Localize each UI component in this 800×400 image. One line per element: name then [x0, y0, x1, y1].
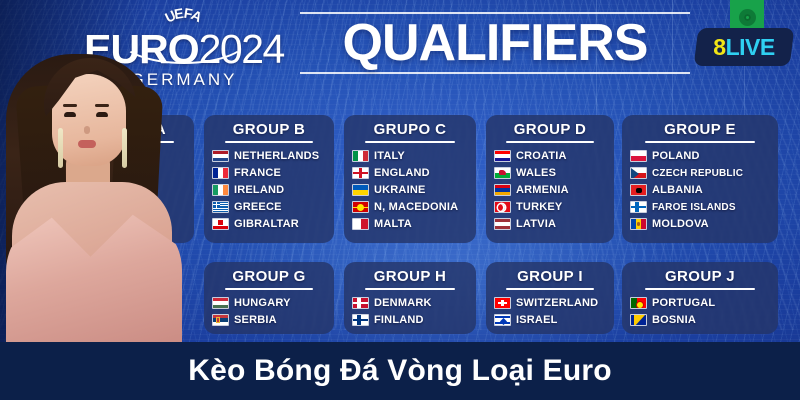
banner-headline: Kèo Bóng Đá Vòng Loại Euro: [188, 354, 612, 388]
team-row[interactable]: ISRAEL: [494, 312, 606, 328]
flag-icon-malta: [352, 218, 369, 230]
team-list-g: HUNGARYSERBIA: [212, 295, 326, 328]
team-name: FAROE ISLANDS: [652, 202, 736, 213]
model-photo-cutout: [0, 0, 190, 342]
team-name: ENGLAND: [374, 167, 430, 179]
team-name: WALES: [516, 167, 556, 179]
team-row[interactable]: DENMARK: [352, 295, 468, 311]
flag-icon-wales: [494, 167, 511, 179]
flag-icon-england: [352, 167, 369, 179]
team-name: IRELAND: [234, 184, 284, 196]
team-row[interactable]: ALBANIA: [630, 182, 770, 198]
team-row[interactable]: N, MACEDONIA: [352, 199, 468, 215]
model-eye-right: [96, 112, 108, 117]
team-name: POLAND: [652, 150, 700, 162]
brand-number: 8: [713, 34, 725, 61]
flag-icon-denmark: [352, 297, 369, 309]
team-row[interactable]: ENGLAND: [352, 165, 468, 181]
bottom-banner: Kèo Bóng Đá Vòng Loại Euro: [0, 342, 800, 400]
team-name: DENMARK: [374, 297, 432, 309]
group-title-j: GROUP J: [630, 268, 770, 285]
page-title: QUALIFIERS: [300, 17, 690, 70]
team-name: GIBRALTAR: [234, 218, 299, 230]
team-row[interactable]: MOLDOVA: [630, 216, 770, 232]
brand-wordmark: 8LIVE: [696, 28, 792, 66]
flag-icon-ireland: [212, 184, 229, 196]
group-title-underline: [365, 141, 455, 143]
group-title-underline: [225, 288, 314, 290]
team-name: PORTUGAL: [652, 297, 715, 309]
flag-icon-turkey: [494, 201, 511, 213]
group-title-underline: [506, 141, 593, 143]
model-brow-right: [95, 104, 109, 107]
model-eye-left: [64, 112, 76, 117]
team-row[interactable]: FINLAND: [352, 312, 468, 328]
team-row[interactable]: SERBIA: [212, 312, 326, 328]
group-panel-i[interactable]: GROUP ISWITZERLANDISRAEL: [486, 262, 614, 334]
team-name: ISRAEL: [516, 314, 558, 326]
team-row[interactable]: MALTA: [352, 216, 468, 232]
flag-icon-albania: [630, 184, 647, 196]
team-name: CROATIA: [516, 150, 567, 162]
team-name: FINLAND: [374, 314, 424, 326]
team-name: ALBANIA: [652, 184, 703, 196]
team-name: UKRAINE: [374, 184, 426, 196]
team-name: SERBIA: [234, 314, 277, 326]
flag-icon-netherlands: [212, 150, 229, 162]
team-name: ARMENIA: [516, 184, 569, 196]
group-title-b: GROUP B: [212, 121, 326, 138]
qualifiers-title-block: QUALIFIERS: [300, 12, 690, 74]
group-title-underline: [645, 141, 754, 143]
flag-icon-faroe: [630, 201, 647, 213]
team-row[interactable]: LATVIA: [494, 216, 606, 232]
team-list-b: NETHERLANDSFRANCEIRELANDGREECEGIBRALTAR: [212, 148, 326, 232]
brand-word: LIVE: [726, 34, 775, 61]
group-title-g: GROUP G: [212, 268, 326, 285]
group-panel-c[interactable]: GRUPO CITALYENGLANDUKRAINEN, MACEDONIAMA…: [344, 115, 476, 243]
team-row[interactable]: GREECE: [212, 199, 326, 215]
team-row[interactable]: UKRAINE: [352, 182, 468, 198]
team-row[interactable]: IRELAND: [212, 182, 326, 198]
model-earring-left: [58, 128, 63, 168]
team-name: ITALY: [374, 150, 405, 162]
team-row[interactable]: POLAND: [630, 148, 770, 164]
group-title-underline: [645, 288, 754, 290]
group-title-e: GROUP E: [630, 121, 770, 138]
group-title-underline: [365, 288, 455, 290]
model-earring-right: [122, 128, 127, 168]
brand-logo-8live[interactable]: 8LIVE: [696, 0, 792, 76]
flag-icon-macedonia: [352, 201, 369, 213]
team-name: LATVIA: [516, 218, 556, 230]
group-panel-j[interactable]: GROUP JPORTUGALBOSNIA: [622, 262, 778, 334]
flag-icon-portugal: [630, 297, 647, 309]
group-panel-h[interactable]: GROUP HDENMARKFINLAND: [344, 262, 476, 334]
group-title-i: GROUP I: [494, 268, 606, 285]
team-row[interactable]: PORTUGAL: [630, 295, 770, 311]
group-title-h: GROUP H: [352, 268, 468, 285]
team-name: HUNGARY: [234, 297, 291, 309]
team-row[interactable]: FAROE ISLANDS: [630, 199, 770, 215]
flag-icon-israel: [494, 314, 511, 326]
team-row[interactable]: NETHERLANDS: [212, 148, 326, 164]
flag-icon-gibraltar: [212, 218, 229, 230]
team-list-i: SWITZERLANDISRAEL: [494, 295, 606, 328]
team-name: SWITZERLAND: [516, 297, 598, 309]
group-panel-b[interactable]: GROUP BNETHERLANDSFRANCEIRELANDGREECEGIB…: [204, 115, 334, 243]
team-name: MALTA: [374, 218, 412, 230]
ball-icon: [739, 9, 756, 26]
flag-icon-finland: [352, 314, 369, 326]
team-list-j: PORTUGALBOSNIA: [630, 295, 770, 328]
team-name: N, MACEDONIA: [374, 201, 458, 213]
team-row[interactable]: ITALY: [352, 148, 468, 164]
flag-icon-serbia: [212, 314, 229, 326]
flag-icon-poland: [630, 150, 647, 162]
title-rule-bottom: [300, 72, 690, 74]
flag-icon-czech: [630, 167, 647, 179]
model-lips: [78, 140, 96, 148]
group-panel-d[interactable]: GROUP DCROATIAWALESARMENIATURKEYLATVIA: [486, 115, 614, 243]
flag-icon-bosnia: [630, 314, 647, 326]
team-row[interactable]: CROATIA: [494, 148, 606, 164]
flag-icon-moldova: [630, 218, 647, 230]
group-title-d: GROUP D: [494, 121, 606, 138]
flag-icon-switzerland: [494, 297, 511, 309]
flag-icon-italy: [352, 150, 369, 162]
team-list-c: ITALYENGLANDUKRAINEN, MACEDONIAMALTA: [352, 148, 468, 232]
flag-icon-france: [212, 167, 229, 179]
team-name: TURKEY: [516, 201, 562, 213]
flag-icon-hungary: [212, 297, 229, 309]
group-title-underline: [506, 288, 593, 290]
team-row[interactable]: HUNGARY: [212, 295, 326, 311]
team-list-h: DENMARKFINLAND: [352, 295, 468, 328]
team-row[interactable]: GIBRALTAR: [212, 216, 326, 232]
group-panel-g[interactable]: GROUP GHUNGARYSERBIA: [204, 262, 334, 334]
model-brow-left: [63, 104, 77, 107]
team-name: GREECE: [234, 201, 282, 213]
team-name: CZECH REPUBLIC: [652, 168, 743, 179]
group-title-underline: [225, 141, 314, 143]
team-list-d: CROATIAWALESARMENIATURKEYLATVIA: [494, 148, 606, 232]
flag-icon-latvia: [494, 218, 511, 230]
team-row[interactable]: BOSNIA: [630, 312, 770, 328]
group-title-c: GRUPO C: [352, 121, 468, 138]
flag-icon-ukraine: [352, 184, 369, 196]
team-list-e: POLANDCZECH REPUBLICALBANIAFAROE ISLANDS…: [630, 148, 770, 232]
team-name: FRANCE: [234, 167, 281, 179]
team-name: NETHERLANDS: [234, 150, 319, 162]
team-row[interactable]: FRANCE: [212, 165, 326, 181]
team-row[interactable]: ARMENIA: [494, 182, 606, 198]
team-row[interactable]: TURKEY: [494, 199, 606, 215]
team-row[interactable]: SWITZERLAND: [494, 295, 606, 311]
group-panel-e[interactable]: GROUP EPOLANDCZECH REPUBLICALBANIAFAROE …: [622, 115, 778, 243]
flag-icon-greece: [212, 201, 229, 213]
flag-icon-armenia: [494, 184, 511, 196]
flag-icon-croatia: [494, 150, 511, 162]
team-name: MOLDOVA: [652, 218, 709, 230]
model-nose: [84, 126, 90, 134]
team-row[interactable]: WALES: [494, 165, 606, 181]
team-name: BOSNIA: [652, 314, 696, 326]
team-row[interactable]: CZECH REPUBLIC: [630, 165, 770, 181]
